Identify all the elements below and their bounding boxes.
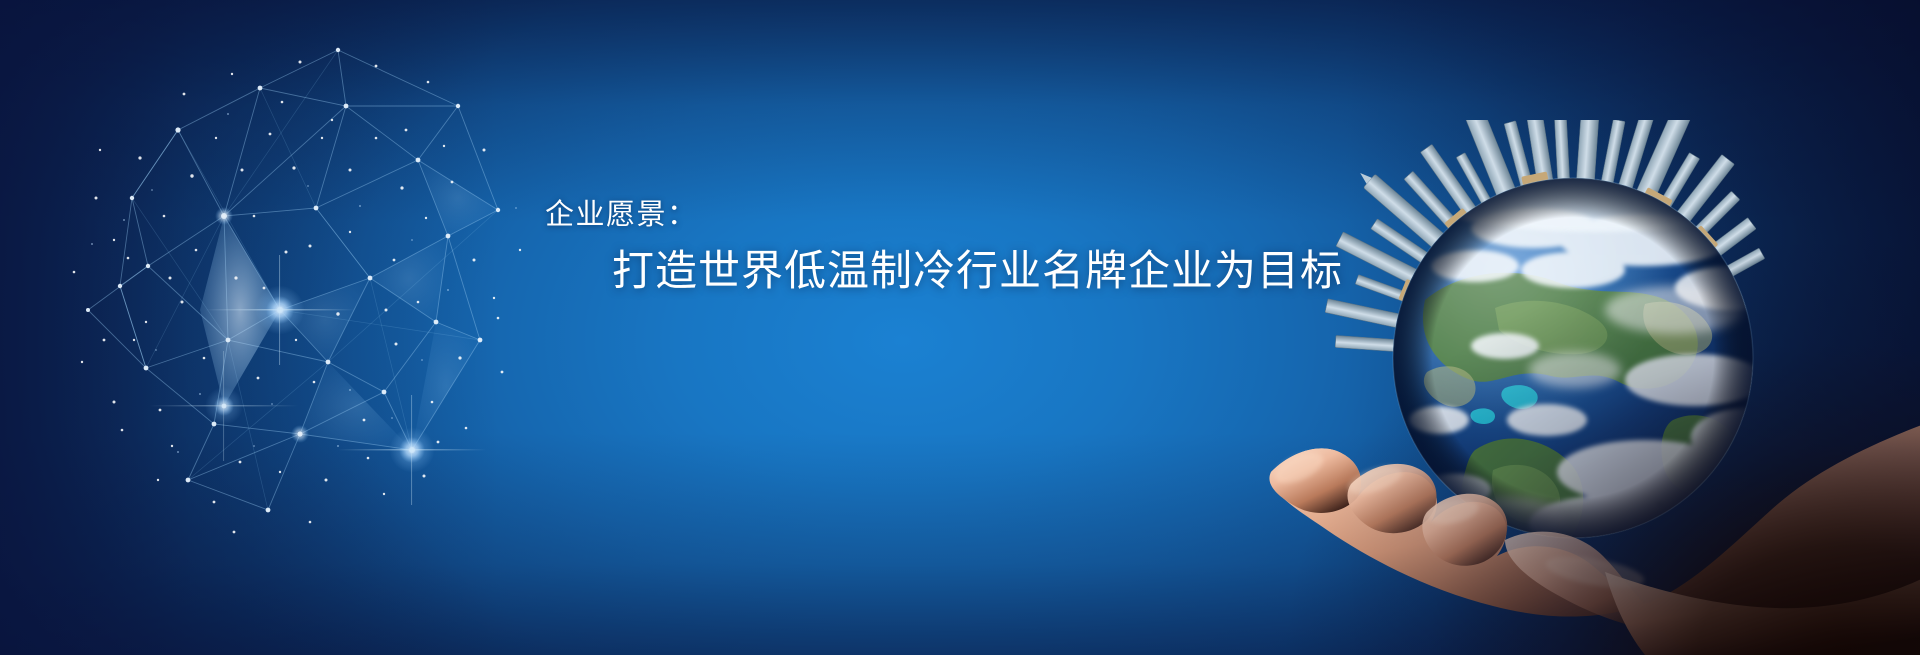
vision-label: 企业愿景： [545, 200, 1305, 232]
network-globe-graphic [28, 10, 568, 570]
arm-shadow-overlay [1280, 235, 1920, 655]
vision-statement: 打造世界低温制冷行业名牌企业为目标 [612, 248, 1343, 294]
vision-banner: 企业愿景： 打造世界低温制冷行业名牌企业为目标 [0, 0, 1920, 655]
vision-text-block: 企业愿景： [545, 200, 1305, 232]
